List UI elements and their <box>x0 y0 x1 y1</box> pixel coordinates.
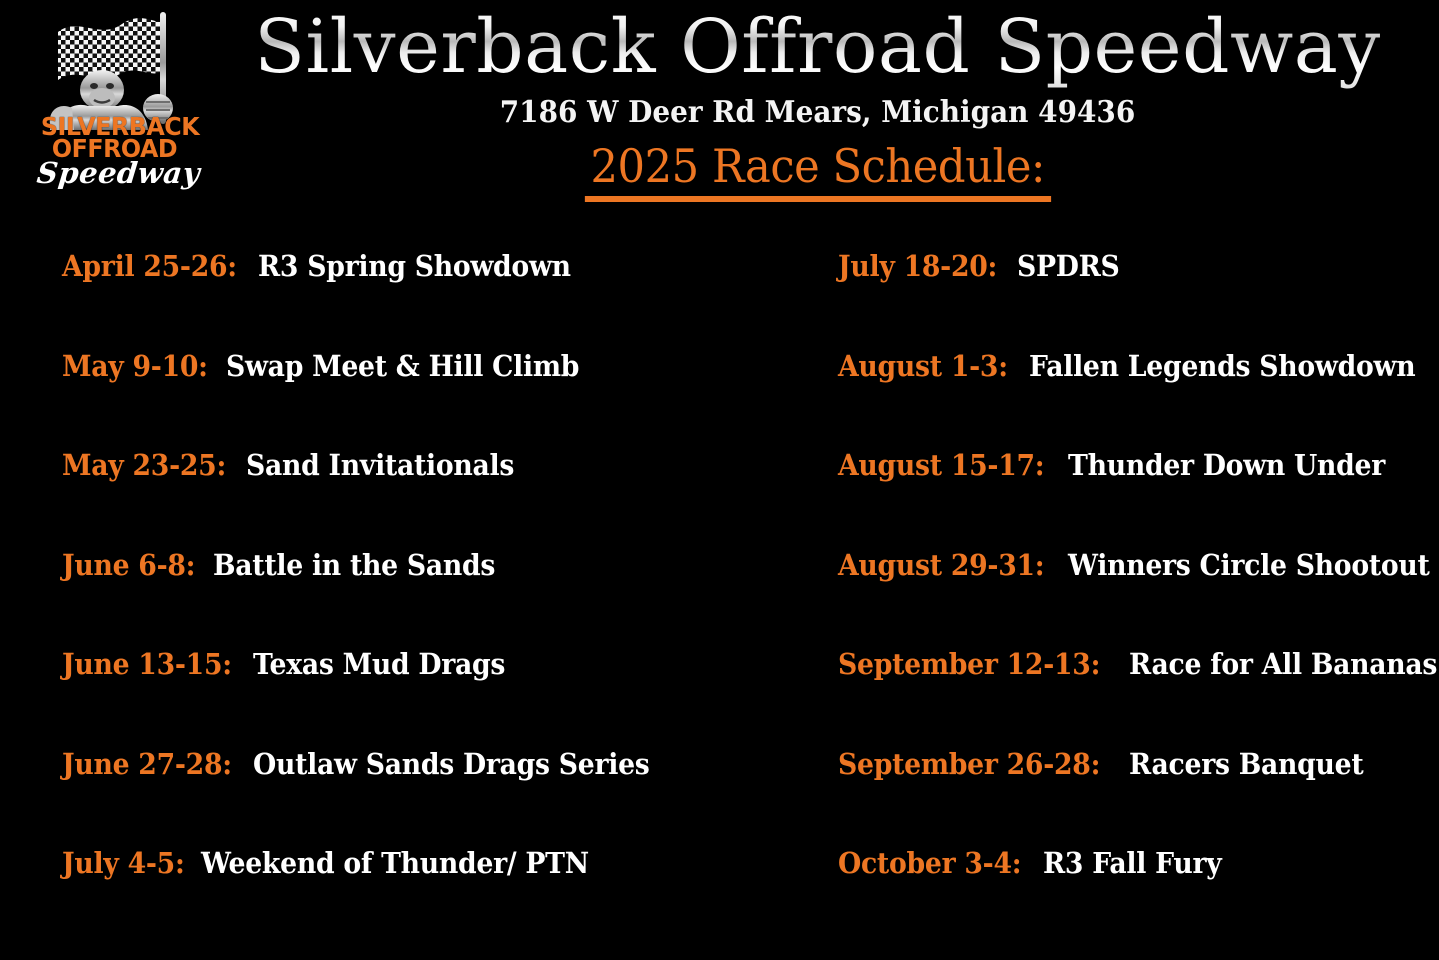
event-row: June 27-28:Outlaw Sands Drags Series <box>62 741 702 841</box>
event-date: July 4-5: <box>62 840 185 886</box>
event-name: Texas Mud Drags <box>253 641 505 687</box>
event-name: Swap Meet & Hill Climb <box>226 343 579 389</box>
event-row: May 23-25:Sand Invitationals <box>62 442 702 542</box>
venue-address: 7186 W Deer Rd Mears, Michigan 49436 <box>240 94 1396 132</box>
event-name: R3 Spring Showdown <box>258 243 571 289</box>
event-name: Fallen Legends Showdown <box>1029 343 1415 389</box>
event-name: Sand Invitationals <box>246 442 514 488</box>
event-date: July 18-20: <box>838 243 997 289</box>
event-row: September 26-28:Racers Banquet <box>838 741 1439 841</box>
event-row: May 9-10:Swap Meet & Hill Climb <box>62 343 702 443</box>
event-date: April 25-26: <box>62 243 237 289</box>
title-block: Silverback Offroad Speedway 7186 W Deer … <box>196 0 1439 202</box>
race-schedule: April 25-26:R3 Spring Showdown May 9-10:… <box>0 243 1439 943</box>
event-row: July 4-5:Weekend of Thunder/ PTN <box>62 840 702 940</box>
poster-header: SILVERBACK OFFROAD Speedway Silverback O… <box>0 0 1439 225</box>
event-date: August 15-17: <box>838 442 1044 488</box>
schedule-heading: 2025 Race Schedule: <box>585 140 1051 202</box>
event-date: June 13-15: <box>62 641 232 687</box>
event-row: June 6-8:Battle in the Sands <box>62 542 702 642</box>
event-date: June 6-8: <box>62 542 195 588</box>
event-name: Racers Banquet <box>1129 741 1363 787</box>
logo-wordmark: SILVERBACK OFFROAD Speedway <box>37 116 192 187</box>
event-name: Battle in the Sands <box>213 542 495 588</box>
schedule-column-right: July 18-20:SPDRS August 1-3:Fallen Legen… <box>838 243 1439 940</box>
event-row: October 3-4:R3 Fall Fury <box>838 840 1439 940</box>
event-row: August 29-31:Winners Circle Shootout <box>838 542 1439 642</box>
speedway-logo: SILVERBACK OFFROAD Speedway <box>34 4 194 200</box>
event-name: Weekend of Thunder/ PTN <box>201 840 589 886</box>
event-row: July 18-20:SPDRS <box>838 243 1439 343</box>
event-date: September 12-13: <box>838 641 1100 687</box>
event-row: September 12-13:Race for All Bananas <box>838 641 1439 741</box>
event-row: August 15-17:Thunder Down Under <box>838 442 1439 542</box>
event-name: Race for All Bananas <box>1129 641 1437 687</box>
event-name: SPDRS <box>1017 243 1120 289</box>
schedule-heading-wrap: 2025 Race Schedule: <box>196 140 1439 202</box>
page-title: Silverback Offroad Speedway <box>196 0 1439 94</box>
event-date: August 29-31: <box>838 542 1044 588</box>
event-date: August 1-3: <box>838 343 1008 389</box>
event-date: October 3-4: <box>838 840 1021 886</box>
schedule-column-left: April 25-26:R3 Spring Showdown May 9-10:… <box>62 243 702 940</box>
event-name: Winners Circle Shootout <box>1068 542 1430 588</box>
event-date: May 9-10: <box>62 343 208 389</box>
logo-text-speedway: Speedway <box>36 161 194 187</box>
event-row: August 1-3:Fallen Legends Showdown <box>838 343 1439 443</box>
event-date: September 26-28: <box>838 741 1100 787</box>
event-date: June 27-28: <box>62 741 232 787</box>
event-name: R3 Fall Fury <box>1043 840 1221 886</box>
event-date: May 23-25: <box>62 442 226 488</box>
event-row: April 25-26:R3 Spring Showdown <box>62 243 702 343</box>
event-name: Thunder Down Under <box>1068 442 1385 488</box>
event-row: June 13-15:Texas Mud Drags <box>62 641 702 741</box>
event-name: Outlaw Sands Drags Series <box>253 741 650 787</box>
